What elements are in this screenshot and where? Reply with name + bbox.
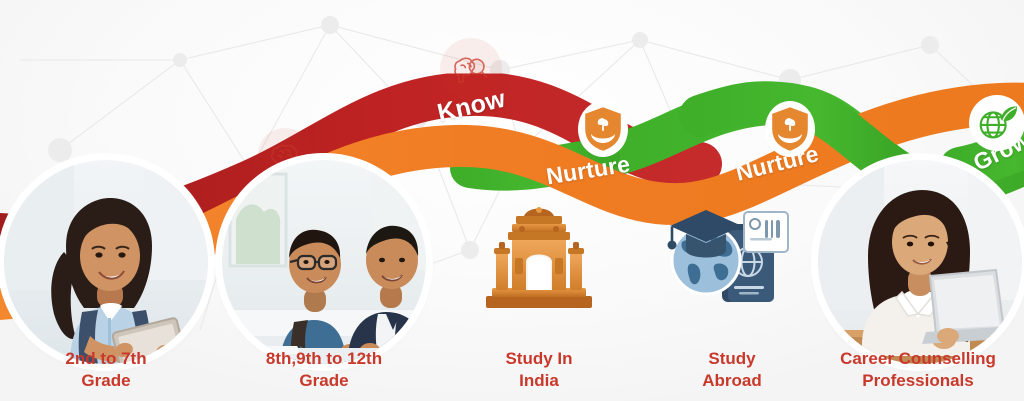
- globe-leaf-icon: [974, 100, 1020, 146]
- shield-plant-hand-icon: [768, 104, 812, 154]
- caption-study-in-india: Study In India: [457, 348, 621, 392]
- caption-career-counselling: Career Counselling Professionals: [812, 348, 1024, 392]
- caption-2nd-to-7th-grade: 2nd to 7th Grade: [6, 348, 206, 392]
- study-abroad-icon-wrapper: [660, 190, 794, 316]
- know-badge: [440, 38, 502, 100]
- nurture-badge-1: [581, 104, 625, 154]
- india-gate-icon: [478, 196, 600, 316]
- photo-student-counsellor: [222, 160, 426, 364]
- photo-woman-laptop: [818, 160, 1022, 364]
- globe-graduation-passport-icon: [660, 190, 794, 316]
- caption-8th-to-12th-grade: 8th,9th to 12th Grade: [222, 348, 426, 392]
- shield-plant-hand-icon: [581, 104, 625, 154]
- career-journey-banner: Know Nurture Nurture Grow: [0, 0, 1024, 401]
- brain-magnifier-icon: [450, 48, 492, 90]
- grow-badge: [972, 98, 1022, 148]
- woman-laptop-illustration: [818, 160, 1022, 364]
- india-gate-icon-wrapper: [478, 196, 600, 316]
- caption-study-abroad: Study Abroad: [650, 348, 814, 392]
- photo-schoolgirl-tablet: [4, 160, 208, 364]
- schoolgirl-tablet-illustration: [4, 160, 208, 364]
- student-counsellor-illustration: [222, 160, 426, 364]
- nurture-badge-2: [768, 104, 812, 154]
